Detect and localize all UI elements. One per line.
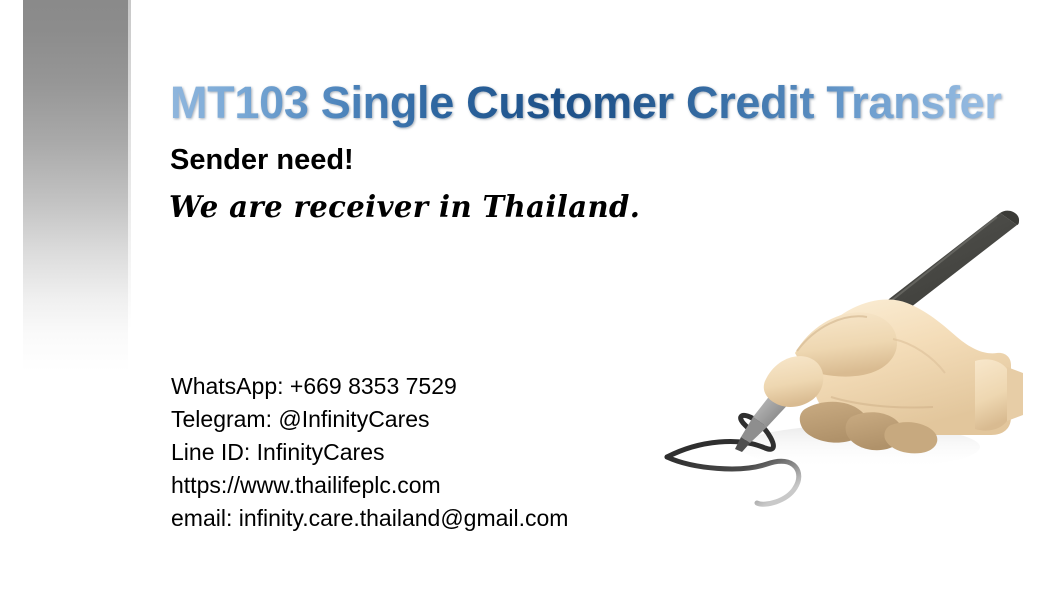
contact-line-website[interactable]: https://www.thailifeplc.com [171,469,691,502]
script-line-receiver: We are receiver in Thailand. [169,190,640,225]
subheading-sender-need: Sender need! [170,144,354,177]
slide-canvas: MT103 Single Customer Credit Transfer Se… [0,0,1063,600]
contact-line-telegram: Telegram: @InfinityCares [171,403,691,436]
contact-line-whatsapp: WhatsApp: +669 8353 7529 [171,370,691,403]
contact-info-block: WhatsApp: +669 8353 7529 Telegram: @Infi… [171,370,691,535]
decorative-gradient-bar [23,0,128,372]
decorative-gradient-bar-edge [128,0,131,330]
contact-line-email[interactable]: email: infinity.care.thailand@gmail.com [171,502,691,535]
contact-line-lineid: Line ID: InfinityCares [171,436,691,469]
page-title: MT103 Single Customer Credit Transfer [170,78,1010,128]
hand-writing-with-pen-icon [645,185,1045,530]
